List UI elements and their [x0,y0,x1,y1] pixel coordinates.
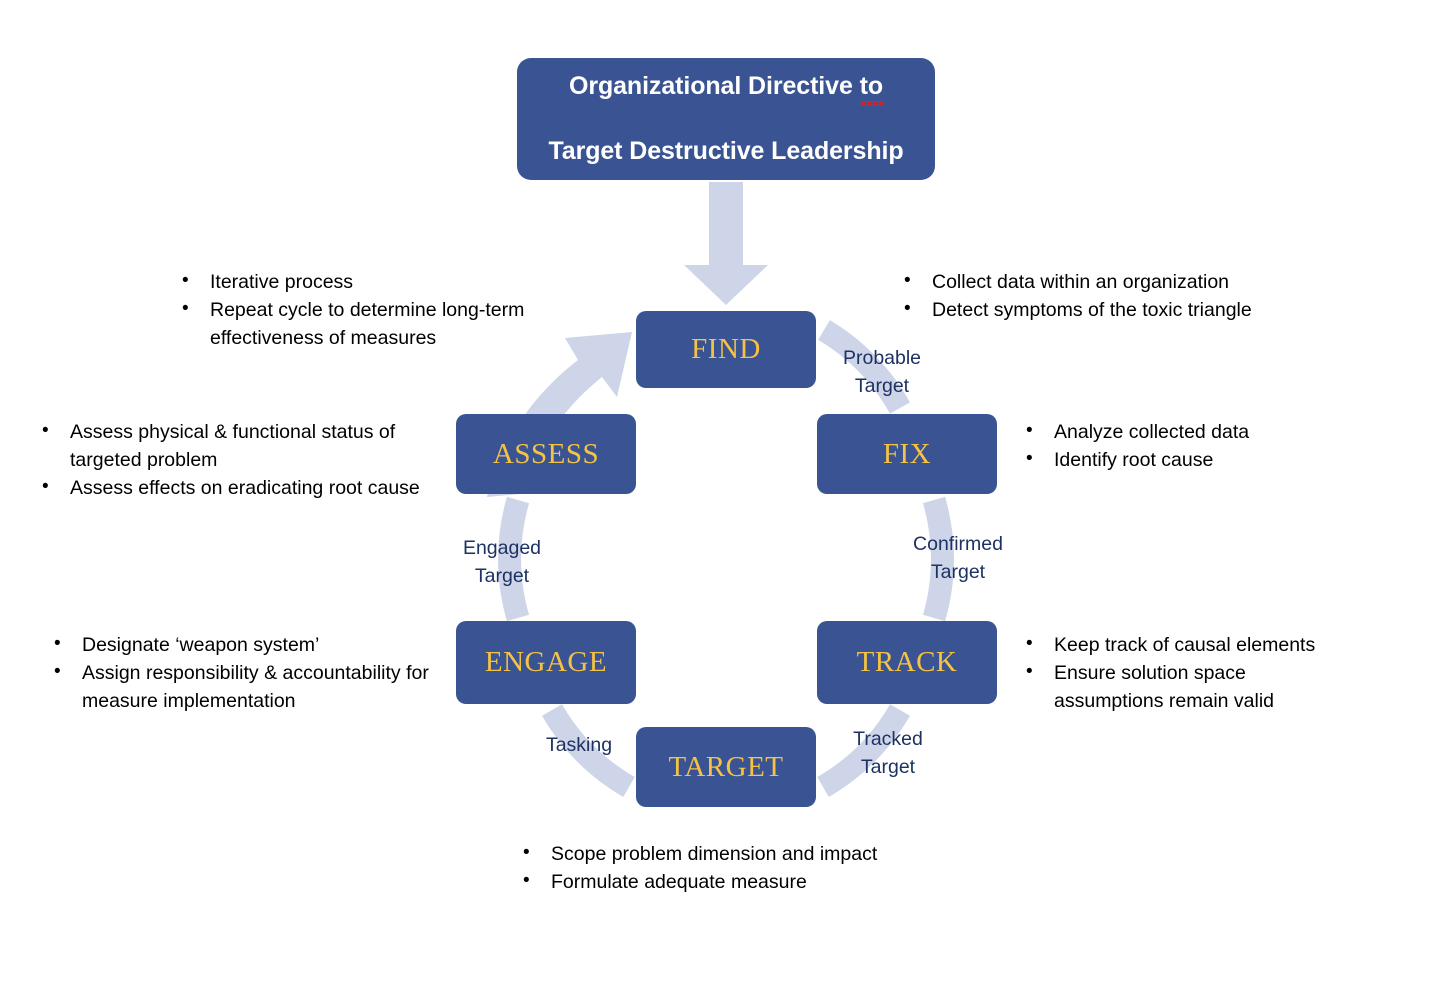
bullet-list: Designate ‘weapon system’ Assign respons… [48,631,452,715]
list-item: Scope problem dimension and impact [517,840,957,868]
bullet-list: Keep track of causal elements Ensure sol… [1020,631,1360,715]
cycle-node-track-label: TRACK [857,648,958,677]
spellcheck-underlined-word: to [860,70,883,103]
bullets-engage: Designate ‘weapon system’ Assign respons… [48,631,452,715]
page-title-line-2: Target Destructive Leadership [548,135,903,168]
transition-label-confirmed-target: Confirmed Target [898,531,1018,586]
transition-label-tasking: Tasking [531,732,627,760]
list-item: Detect symptoms of the toxic triangle [898,296,1328,324]
cycle-node-fix-label: FIX [883,440,931,469]
cycle-node-engage[interactable]: ENGAGE [456,621,636,704]
bullet-list: Assess physical & functional status of t… [36,418,446,502]
cycle-node-target-label: TARGET [668,753,783,782]
directive-to-find-arrow [684,182,768,305]
cycle-node-assess-label: ASSESS [493,440,599,469]
bullet-list: Collect data within an organization Dete… [898,268,1328,324]
page-title: Organizational Directive to Target Destr… [548,38,903,201]
cycle-node-target[interactable]: TARGET [636,727,816,807]
list-item: Formulate adequate measure [517,868,957,896]
list-item: Ensure solution space assumptions remain… [1020,659,1360,715]
cycle-node-engage-label: ENGAGE [485,648,607,677]
bullet-list: Iterative process Repeat cycle to determ… [176,268,586,352]
bullets-track: Keep track of causal elements Ensure sol… [1020,631,1360,715]
page-title-line-1-lead: Organizational Directive [569,72,860,100]
list-item: Identify root cause [1020,446,1350,474]
list-item: Assess physical & functional status of t… [36,418,446,474]
bullets-assess: Assess physical & functional status of t… [36,418,446,502]
cycle-node-find[interactable]: FIND [636,311,816,388]
cycle-node-track[interactable]: TRACK [817,621,997,704]
bullets-target: Scope problem dimension and impact Formu… [517,840,957,896]
list-item: Assign responsibility & accountability f… [48,659,452,715]
directive-title-box: Organizational Directive to Target Destr… [517,58,935,180]
list-item: Repeat cycle to determine long-term effe… [176,296,586,352]
list-item: Collect data within an organization [898,268,1328,296]
bullet-list: Analyze collected data Identify root cau… [1020,418,1350,474]
cycle-node-assess[interactable]: ASSESS [456,414,636,494]
list-item: Keep track of causal elements [1020,631,1360,659]
list-item: Assess effects on eradicating root cause [36,474,446,502]
list-item: Analyze collected data [1020,418,1350,446]
transition-label-engaged-target: Engaged Target [446,535,558,590]
transition-label-tracked-target: Tracked Target [838,726,938,781]
list-item: Iterative process [176,268,586,296]
cycle-node-find-label: FIND [691,335,761,364]
bullets-fix: Analyze collected data Identify root cau… [1020,418,1350,474]
bullets-find: Collect data within an organization Dete… [898,268,1328,324]
page-title-line-1: Organizational Directive to [548,70,903,103]
bullets-cycle-repeat: Iterative process Repeat cycle to determ… [176,268,586,352]
list-item: Designate ‘weapon system’ [48,631,452,659]
transition-label-probable-target: Probable Target [826,345,938,400]
bullet-list: Scope problem dimension and impact Formu… [517,840,957,896]
cycle-node-fix[interactable]: FIX [817,414,997,494]
